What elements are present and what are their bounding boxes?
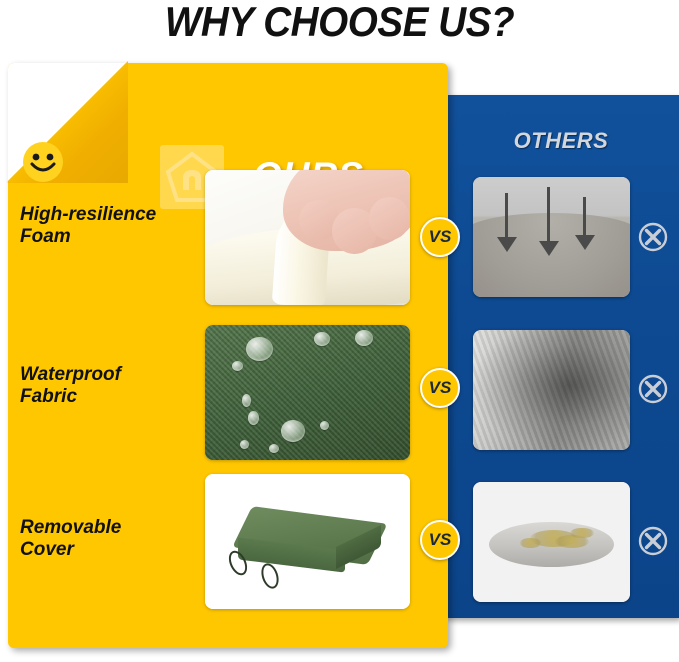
why-choose-us-infographic: WHY CHOOSE US? OTHERS <box>0 0 679 662</box>
vs-label: VS <box>429 378 452 398</box>
ours-image-removable-cover <box>205 474 410 609</box>
ours-image-waterproof-fabric <box>205 325 410 460</box>
vs-badge: VS <box>420 217 460 257</box>
circle-x-icon <box>637 373 669 405</box>
vs-badge: VS <box>420 520 460 560</box>
circle-x-icon <box>637 221 669 253</box>
page-title: WHY CHOOSE US? <box>27 0 652 46</box>
feature-label-line: Cover <box>20 539 205 561</box>
feature-label-line: Removable <box>20 517 205 539</box>
feature-label-line: Fabric <box>20 386 205 408</box>
circle-x-icon <box>637 525 669 557</box>
vs-label: VS <box>429 530 452 550</box>
vs-label: VS <box>429 227 452 247</box>
others-image-high-resilience-foam <box>473 177 630 297</box>
feature-label-removable-cover: Removable Cover <box>20 517 205 562</box>
others-image-removable-cover <box>473 482 630 602</box>
feature-label-high-resilience-foam: High-resilience Foam <box>20 204 205 249</box>
others-heading: OTHERS <box>443 128 679 154</box>
feature-label-waterproof-fabric: Waterproof Fabric <box>20 364 205 409</box>
smiley-face-icon <box>22 141 64 183</box>
ours-image-high-resilience-foam <box>205 170 410 305</box>
vs-badge: VS <box>420 368 460 408</box>
feature-label-line: Waterproof <box>20 364 205 386</box>
others-image-waterproof-fabric <box>473 330 630 450</box>
feature-label-line: High-resilience <box>20 204 205 226</box>
feature-label-line: Foam <box>20 226 205 248</box>
